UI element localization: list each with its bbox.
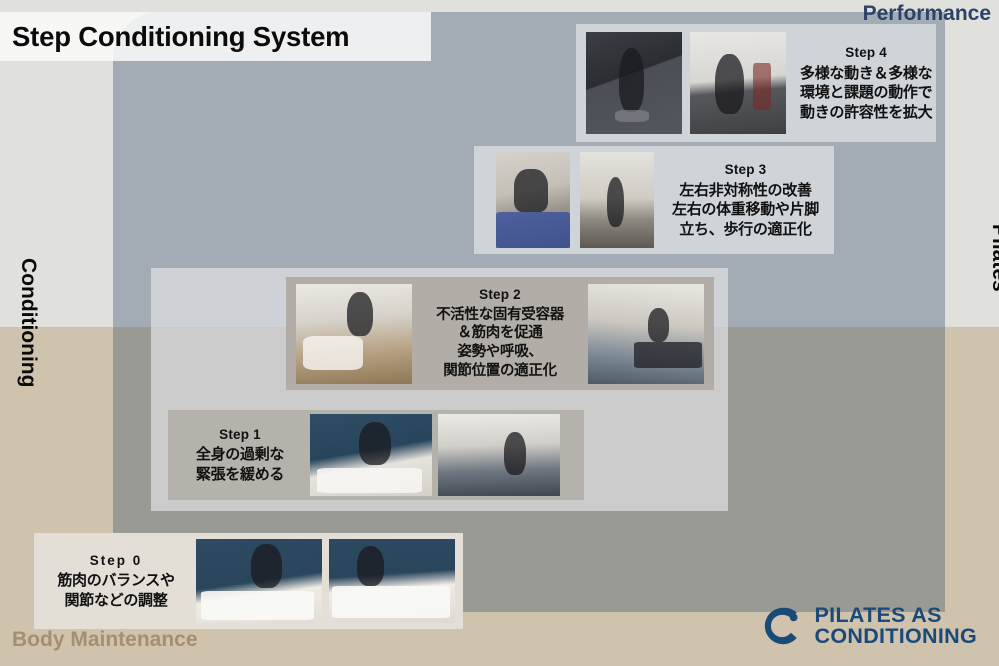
step4-line-3: 動きの許容性を拡大 xyxy=(800,103,932,123)
step0-label: Step 0 xyxy=(42,552,190,570)
step3-label: Step 3 xyxy=(672,161,819,179)
reformer-supine-arm-work-photo xyxy=(588,284,704,384)
step4-text-block: Step 4 多様な動き＆多様な 環境と課題の動作で 動きの許容性を拡大 xyxy=(800,44,932,122)
manual-therapy-leg-mobilization-photo xyxy=(329,539,455,623)
step1-line-1: 全身の過剰な xyxy=(176,445,304,465)
sled-resisted-drive-photo xyxy=(690,32,786,134)
brand-logo: PILATES AS CONDITIONING xyxy=(761,604,977,648)
step1-line-2: 緊張を緩める xyxy=(176,465,304,485)
step0-line-2: 関節などの調整 xyxy=(42,591,190,611)
title-banner: Step Conditioning System xyxy=(0,12,431,61)
step-card-step1[interactable]: Step 1 全身の過剰な 緊張を緩める xyxy=(168,410,584,500)
step2-line-1: 不活性な固有受容器 xyxy=(416,306,584,325)
axis-label-performance: Performance xyxy=(863,2,991,26)
axis-label-pilates: Pilates xyxy=(987,224,999,292)
step-card-step4[interactable]: Step 4 多様な動き＆多様な 環境と課題の動作で 動きの許容性を拡大 xyxy=(576,24,936,142)
step2-line-3: 姿勢や呼吸、 xyxy=(416,343,584,362)
step1-photo-group xyxy=(310,414,560,496)
loaded-carry-hinge-photo xyxy=(586,32,682,134)
step3-text-block: Step 3 左右非対称性の改善 左右の体重移動や片脚 立ち、歩行の適正化 xyxy=(672,161,819,239)
table-release-technique-photo xyxy=(310,414,432,496)
step1-text-block: Step 1 全身の過剰な 緊張を緩める xyxy=(176,426,304,485)
step2-line-4: 関節位置の適正化 xyxy=(416,362,584,381)
step2-text-block: Step 2 不活性な固有受容器 ＆筋肉を促通 姿勢や呼吸、 関節位置の適正化 xyxy=(416,286,584,381)
step1-label: Step 1 xyxy=(176,426,304,444)
box-kneeling-reach-cue-photo xyxy=(296,284,412,384)
step-card-step3[interactable]: Step 3 左右非対称性の改善 左右の体重移動や片脚 立ち、歩行の適正化 xyxy=(474,146,834,254)
brand-line-1: PILATES AS xyxy=(815,605,977,627)
axis-label-conditioning: Conditioning xyxy=(16,258,40,387)
slide-canvas: Step Conditioning System Performance Pil… xyxy=(0,0,999,666)
step4-label: Step 4 xyxy=(800,44,932,62)
step0-text-block: Step 0 筋肉のバランスや 関節などの調整 xyxy=(42,552,190,611)
manual-therapy-arm-mobilization-photo xyxy=(196,539,322,623)
page-title: Step Conditioning System xyxy=(0,21,349,53)
step0-photo-group xyxy=(196,539,455,623)
step-card-step2[interactable]: Step 2 不活性な固有受容器 ＆筋肉を促通 姿勢や呼吸、 関節位置の適正化 xyxy=(286,277,714,390)
step0-line-1: 筋肉のバランスや xyxy=(42,571,190,591)
step2-line-2: ＆筋肉を促通 xyxy=(416,324,584,343)
step3-line-1: 左右非対称性の改善 xyxy=(672,181,819,201)
step4-photo-group xyxy=(586,32,786,134)
step4-line-2: 環境と課題の動作で xyxy=(800,83,932,103)
brand-wordmark: PILATES AS CONDITIONING xyxy=(815,605,977,648)
side-plank-mat-assist-photo xyxy=(496,152,570,248)
step2-label: Step 2 xyxy=(416,286,584,304)
step-card-step0[interactable]: Step 0 筋肉のバランスや 関節などの調整 xyxy=(34,533,463,629)
brand-line-2: CONDITIONING xyxy=(815,626,977,648)
c-ring-dot-logo-icon xyxy=(761,604,805,648)
step3-line-2: 左右の体重移動や片脚 xyxy=(672,200,819,220)
step4-line-1: 多様な動き＆多様な xyxy=(800,64,932,84)
step3-line-3: 立ち、歩行の適正化 xyxy=(672,220,819,240)
single-leg-balance-standing-photo xyxy=(580,152,654,248)
step3-photo-group xyxy=(496,152,654,248)
standing-reach-studio-photo xyxy=(438,414,560,496)
axis-label-body-maintenance: Body Maintenance xyxy=(12,628,198,652)
